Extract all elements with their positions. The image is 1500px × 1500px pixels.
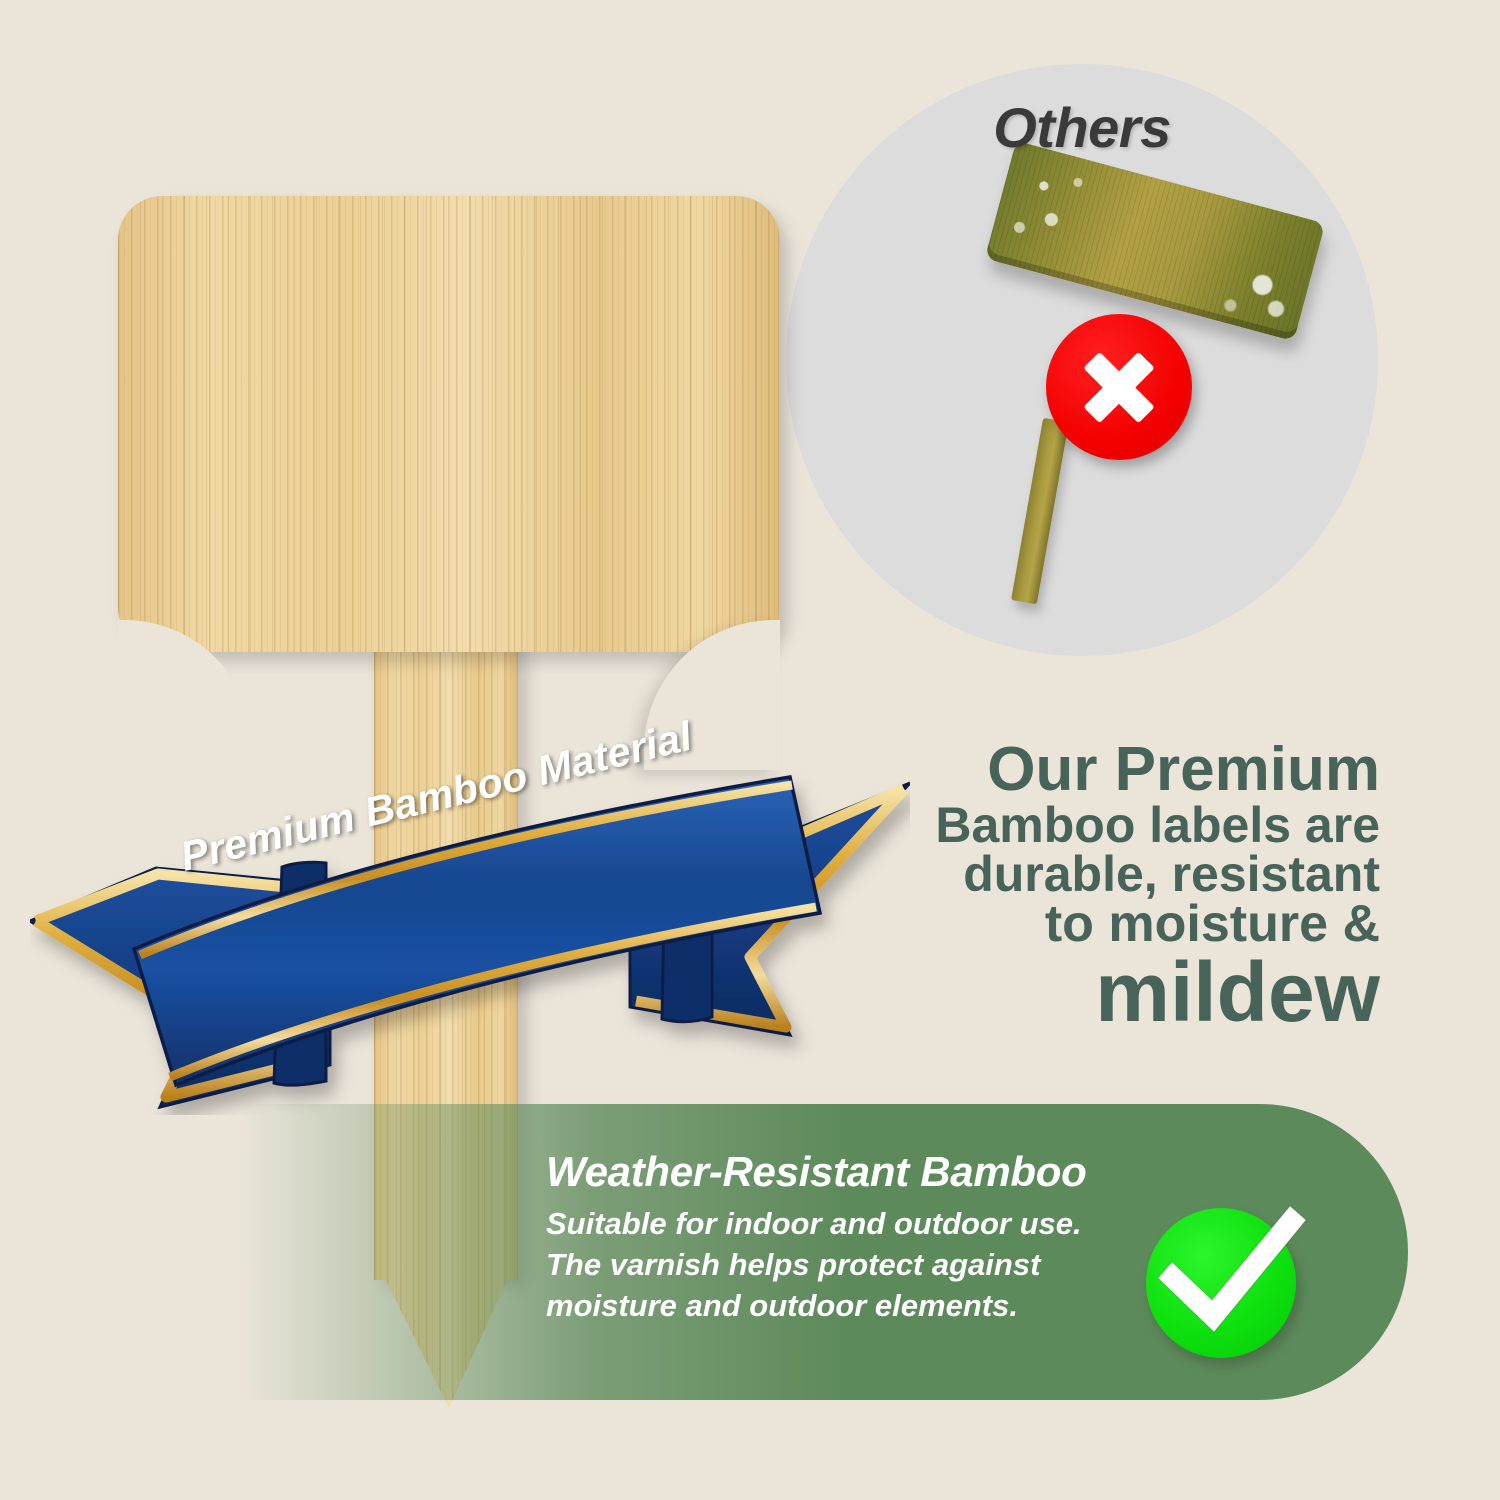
headline-block: Our Premium Bamboo labels are durable, r… — [930, 740, 1380, 1035]
feature-text-block: Weather-Resistant Bamboo Suitable for in… — [546, 1148, 1146, 1327]
check-mark-icon — [1152, 1196, 1312, 1356]
x-mark-icon — [1046, 314, 1192, 460]
bamboo-label-head — [118, 196, 780, 652]
headline-line-3: durable, resistant — [930, 850, 1380, 899]
headline-line-1: Our Premium — [930, 740, 1380, 801]
ribbon-graphic — [30, 735, 910, 1115]
feature-title: Weather-Resistant Bamboo — [546, 1148, 1146, 1196]
infographic-canvas: Others — [0, 0, 1500, 1500]
premium-ribbon — [30, 735, 910, 1115]
headline-line-2: Bamboo labels are — [930, 801, 1380, 850]
headline-line-5: mildew — [930, 950, 1380, 1036]
others-label: Others — [786, 95, 1378, 160]
headline-line-4: to moisture & — [930, 899, 1380, 950]
feature-line-3: moisture and outdoor elements. — [546, 1286, 1146, 1327]
feature-line-1: Suitable for indoor and outdoor use. — [546, 1204, 1146, 1245]
feature-line-2: The varnish helps protect against — [546, 1245, 1146, 1286]
